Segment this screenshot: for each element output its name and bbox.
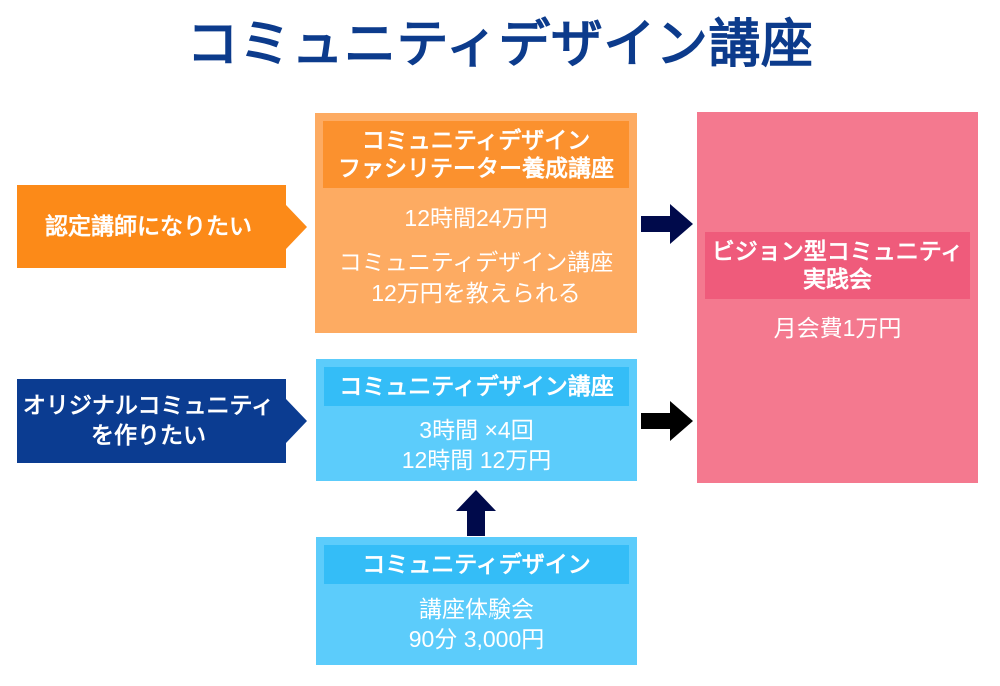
card-trial-header: コミュニティデザイン	[324, 545, 629, 584]
label-community-line2: を作りたい	[91, 422, 206, 448]
chevron-right-icon	[286, 205, 307, 249]
label-build-original-community: オリジナルコミュニティ を作りたい	[17, 379, 286, 463]
label-community-line1: オリジナルコミュニティ	[23, 392, 274, 418]
card-course-schedule: 3時間 ×4回	[320, 415, 633, 445]
card-practice-header-line2: 実践会	[803, 266, 872, 292]
card-trial-subtitle: 講座体験会	[320, 594, 633, 624]
spacer	[319, 233, 633, 247]
card-facilitator-header-line2: ファシリテーター養成講座	[338, 155, 614, 181]
card-practice-fee: 月会費1万円	[701, 313, 974, 343]
label-community-text: オリジナルコミュニティ を作りたい	[23, 391, 274, 451]
card-practice-header-line1: ビジョン型コミュニティ	[712, 238, 964, 264]
arrow-right-icon	[641, 202, 693, 246]
card-course-header: コミュニティデザイン講座	[324, 367, 629, 406]
card-trial-header-line1: コミュニティデザイン	[362, 551, 591, 577]
card-facilitator-benefit-line2: 12万円を教えられる	[319, 278, 633, 308]
card-facilitator-training: コミュニティデザイン ファシリテーター養成講座 12時間24万円 コミュニティデ…	[315, 113, 637, 333]
diagram-canvas: コミュニティデザイン講座 認定講師になりたい オリジナルコミュニティ を作りたい…	[0, 0, 1000, 686]
arrow-up-icon	[454, 490, 498, 536]
card-facilitator-header: コミュニティデザイン ファシリテーター養成講座	[323, 121, 629, 188]
card-trial-price: 90分 3,000円	[320, 624, 633, 654]
card-facilitator-header-line1: コミュニティデザイン	[362, 127, 591, 153]
card-facilitator-benefit-line1: コミュニティデザイン講座	[319, 247, 633, 277]
arrow-right-icon	[641, 399, 693, 443]
card-trial-body: 講座体験会 90分 3,000円	[316, 584, 637, 655]
card-trial-session: コミュニティデザイン 講座体験会 90分 3,000円	[316, 537, 637, 665]
card-course-price: 12時間 12万円	[320, 445, 633, 475]
card-community-design-course: コミュニティデザイン講座 3時間 ×4回 12時間 12万円	[316, 359, 637, 481]
card-course-body: 3時間 ×4回 12時間 12万円	[316, 406, 637, 476]
label-become-certified-instructor: 認定講師になりたい	[17, 185, 286, 268]
chevron-right-icon	[286, 399, 307, 443]
page-title: コミュニティデザイン講座	[0, 16, 1000, 76]
card-facilitator-price: 12時間24万円	[319, 203, 633, 233]
card-practice-body: 月会費1万円	[697, 299, 978, 343]
card-facilitator-body: 12時間24万円 コミュニティデザイン講座 12万円を教えられる	[315, 188, 637, 308]
card-vision-community-practice: ビジョン型コミュニティ 実践会 月会費1万円	[697, 112, 978, 483]
label-instructor-text: 認定講師になりたい	[45, 212, 252, 242]
card-practice-header: ビジョン型コミュニティ 実践会	[705, 232, 970, 299]
card-course-header-line1: コミュニティデザイン講座	[339, 373, 614, 399]
